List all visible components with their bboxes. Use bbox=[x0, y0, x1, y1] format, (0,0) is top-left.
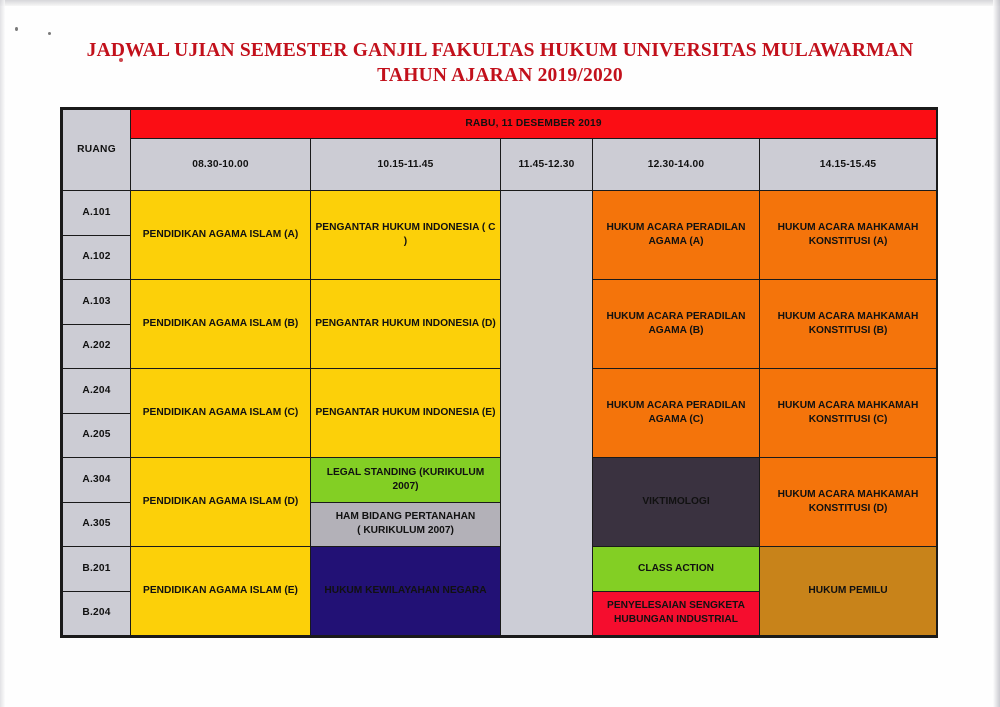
scan-edge-left bbox=[0, 0, 5, 707]
table-header-slots-row: 08.30-10.00 10.15-11.45 11.45-12.30 12.3… bbox=[63, 139, 937, 191]
exam-cell-ham-pertanahan-line2: ( KURIKULUM 2007) bbox=[357, 525, 454, 536]
scan-edge-top bbox=[0, 0, 1000, 6]
title-line-1: JADWAL UJIAN SEMESTER GANJIL FAKULTAS HU… bbox=[0, 38, 1000, 63]
exam-cell-hapa-b-line2: AGAMA (B) bbox=[648, 325, 703, 336]
exam-cell-hamk-a: HUKUM ACARA MAHKAMAH KONSTITUSI (A) bbox=[760, 191, 937, 280]
exam-cell-phi-d: PENGANTAR HUKUM INDONESIA (D) bbox=[311, 280, 501, 369]
room-label-a101: A.101 bbox=[63, 191, 131, 236]
exam-cell-hamk-c-line1: HUKUM ACARA MAHKAMAH bbox=[778, 400, 919, 411]
exam-cell-hapa-b-line1: HUKUM ACARA PERADILAN bbox=[606, 311, 745, 322]
room-label-b204: B.204 bbox=[63, 591, 131, 636]
exam-cell-hukum-pemilu: HUKUM PEMILU bbox=[760, 547, 937, 636]
table-row: A.103 PENDIDIKAN AGAMA ISLAM (B) PENGANT… bbox=[63, 280, 937, 325]
exam-cell-hamk-c-line2: KONSTITUSI (C) bbox=[809, 414, 888, 425]
exam-cell-pai-b: PENDIDIKAN AGAMA ISLAM (B) bbox=[131, 280, 311, 369]
exam-cell-pai-c: PENDIDIKAN AGAMA ISLAM (C) bbox=[131, 369, 311, 458]
room-label-a102: A.102 bbox=[63, 235, 131, 280]
break-column-cell bbox=[501, 191, 593, 636]
exam-cell-sengketa-industrial: PENYELESAIAN SENGKETA HUBUNGAN INDUSTRIA… bbox=[593, 591, 760, 636]
exam-cell-hapa-a-line1: HUKUM ACARA PERADILAN bbox=[606, 222, 745, 233]
exam-cell-pai-a: PENDIDIKAN AGAMA ISLAM (A) bbox=[131, 191, 311, 280]
exam-cell-phi-e: PENGANTAR HUKUM INDONESIA (E) bbox=[311, 369, 501, 458]
table-row: A.101 PENDIDIKAN AGAMA ISLAM (A) PENGANT… bbox=[63, 191, 937, 236]
exam-cell-kewilayahan: HUKUM KEWILAYAHAN NEGARA bbox=[311, 547, 501, 636]
column-header-slot-4: 12.30-14.00 bbox=[593, 139, 760, 191]
table-row: A.304 PENDIDIKAN AGAMA ISLAM (D) LEGAL S… bbox=[63, 458, 937, 503]
exam-cell-hamk-d-line1: HUKUM ACARA MAHKAMAH bbox=[778, 489, 919, 500]
column-header-slot-2: 10.15-11.45 bbox=[311, 139, 501, 191]
room-label-a204: A.204 bbox=[63, 369, 131, 414]
exam-cell-hamk-d-line2: KONSTITUSI (D) bbox=[809, 503, 888, 514]
exam-cell-ham-pertanahan: HAM BIDANG PERTANAHAN ( KURIKULUM 2007) bbox=[311, 502, 501, 547]
exam-schedule-table: RUANG RABU, 11 DESEMBER 2019 08.30-10.00… bbox=[62, 109, 937, 636]
exam-cell-hamk-b-line2: KONSTITUSI (B) bbox=[809, 325, 888, 336]
exam-cell-hapa-c-line1: HUKUM ACARA PERADILAN bbox=[606, 400, 745, 411]
room-label-b201: B.201 bbox=[63, 547, 131, 592]
exam-cell-sengketa-line2: HUBUNGAN INDUSTRIAL bbox=[614, 614, 738, 625]
exam-cell-hamk-a-line2: KONSTITUSI (A) bbox=[809, 236, 888, 247]
exam-cell-hapa-c-line2: AGAMA (C) bbox=[648, 414, 703, 425]
exam-cell-hamk-d: HUKUM ACARA MAHKAMAH KONSTITUSI (D) bbox=[760, 458, 937, 547]
exam-cell-hapa-a-line2: AGAMA (A) bbox=[648, 236, 703, 247]
scan-speck bbox=[48, 32, 51, 35]
exam-cell-pai-d: PENDIDIKAN AGAMA ISLAM (D) bbox=[131, 458, 311, 547]
exam-cell-hapa-c: HUKUM ACARA PERADILAN AGAMA (C) bbox=[593, 369, 760, 458]
exam-cell-hamk-b-line1: HUKUM ACARA MAHKAMAH bbox=[778, 311, 919, 322]
exam-cell-class-action: CLASS ACTION bbox=[593, 547, 760, 592]
page-title: JADWAL UJIAN SEMESTER GANJIL FAKULTAS HU… bbox=[0, 38, 1000, 88]
table-row: B.201 PENDIDIKAN AGAMA ISLAM (E) HUKUM K… bbox=[63, 547, 937, 592]
scanned-page: JADWAL UJIAN SEMESTER GANJIL FAKULTAS HU… bbox=[0, 0, 1000, 707]
exam-cell-phi-c: PENGANTAR HUKUM INDONESIA ( C ) bbox=[311, 191, 501, 280]
exam-cell-hapa-a: HUKUM ACARA PERADILAN AGAMA (A) bbox=[593, 191, 760, 280]
scan-edge-right bbox=[993, 0, 1000, 707]
column-header-slot-3: 11.45-12.30 bbox=[501, 139, 593, 191]
room-label-a202: A.202 bbox=[63, 324, 131, 369]
exam-cell-ham-pertanahan-line1: HAM BIDANG PERTANAHAN bbox=[336, 511, 476, 522]
exam-cell-pai-e: PENDIDIKAN AGAMA ISLAM (E) bbox=[131, 547, 311, 636]
date-banner: RABU, 11 DESEMBER 2019 bbox=[131, 110, 937, 139]
column-header-slot-5: 14.15-15.45 bbox=[760, 139, 937, 191]
exam-cell-legal-standing: LEGAL STANDING (KURIKULUM 2007) bbox=[311, 458, 501, 503]
table-header-date-row: RUANG RABU, 11 DESEMBER 2019 bbox=[63, 110, 937, 139]
title-line-2: TAHUN AJARAN 2019/2020 bbox=[0, 63, 1000, 88]
room-label-a305: A.305 bbox=[63, 502, 131, 547]
table-row: A.204 PENDIDIKAN AGAMA ISLAM (C) PENGANT… bbox=[63, 369, 937, 414]
schedule-table-container: RUANG RABU, 11 DESEMBER 2019 08.30-10.00… bbox=[60, 107, 938, 638]
room-label-a205: A.205 bbox=[63, 413, 131, 458]
column-header-ruang: RUANG bbox=[63, 110, 131, 191]
column-header-slot-1: 08.30-10.00 bbox=[131, 139, 311, 191]
exam-cell-viktimologi: VIKTIMOLOGI bbox=[593, 458, 760, 547]
exam-cell-hamk-a-line1: HUKUM ACARA MAHKAMAH bbox=[778, 222, 919, 233]
scan-speck bbox=[15, 27, 18, 31]
exam-cell-sengketa-line1: PENYELESAIAN SENGKETA bbox=[607, 600, 745, 611]
exam-cell-hamk-b: HUKUM ACARA MAHKAMAH KONSTITUSI (B) bbox=[760, 280, 937, 369]
exam-cell-hamk-c: HUKUM ACARA MAHKAMAH KONSTITUSI (C) bbox=[760, 369, 937, 458]
exam-cell-hapa-b: HUKUM ACARA PERADILAN AGAMA (B) bbox=[593, 280, 760, 369]
room-label-a103: A.103 bbox=[63, 280, 131, 325]
room-label-a304: A.304 bbox=[63, 458, 131, 503]
